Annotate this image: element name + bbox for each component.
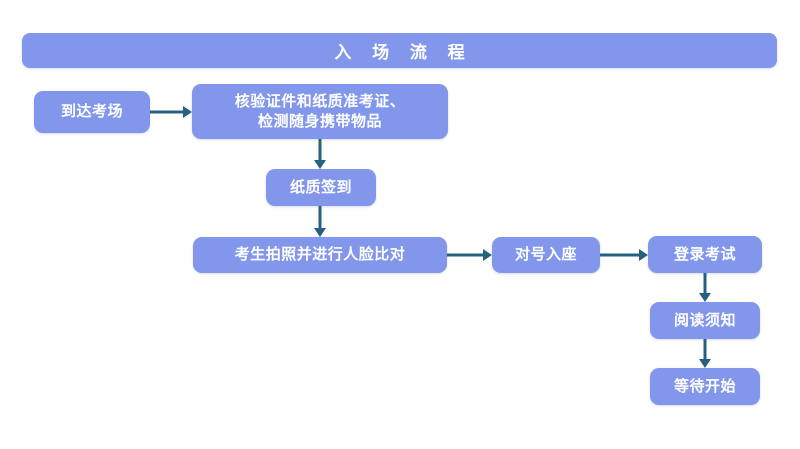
flow-node-wait-start[interactable]: 等待开始 — [650, 368, 760, 405]
arrow-head — [639, 249, 648, 261]
flowchart-title-banner: 入 场 流 程 — [22, 33, 777, 68]
flow-node-label-multiline: 核验证件和纸质准考证、 检测随身携带物品 — [235, 92, 406, 132]
flow-node-label: 到达考场 — [61, 102, 123, 122]
arrow-head — [699, 359, 711, 368]
arrow-line — [600, 254, 640, 257]
arrow-right-icon-face-compare-to-seat — [447, 247, 492, 263]
arrow-line — [319, 206, 322, 229]
flow-node-face-compare[interactable]: 考生拍照并进行人脸比对 — [193, 237, 447, 273]
flow-node-login[interactable]: 登录考试 — [648, 236, 762, 273]
page-title: 入 场 流 程 — [326, 38, 472, 63]
flow-node-label: 登录考试 — [674, 245, 736, 265]
flowchart-canvas: 入 场 流 程 到达考场 核验证件和纸质准考证、 检测随身携带物品 纸质签到 考… — [0, 0, 800, 449]
flow-node-label-line2: 检测随身携带物品 — [258, 113, 382, 130]
flow-node-label: 等待开始 — [674, 377, 736, 397]
arrow-line — [150, 111, 184, 114]
arrow-down-icon-paper-signin-to-face-compare — [312, 206, 328, 237]
flow-node-paper-signin[interactable]: 纸质签到 — [266, 169, 376, 206]
arrow-right-icon-arrive-to-verify — [150, 104, 192, 120]
flow-node-label: 考生拍照并进行人脸比对 — [235, 245, 406, 265]
arrow-line — [447, 254, 484, 257]
arrow-head — [314, 160, 326, 169]
arrow-right-icon-seat-to-login — [600, 247, 648, 263]
arrow-down-icon-read-notice-to-wait-start — [697, 339, 713, 368]
flow-node-read-notice[interactable]: 阅读须知 — [650, 302, 760, 339]
flow-node-label: 阅读须知 — [674, 311, 736, 331]
arrow-down-icon-login-to-read-notice — [697, 273, 713, 302]
flow-node-label: 对号入座 — [515, 245, 577, 265]
flow-node-label: 纸质签到 — [290, 178, 352, 198]
flow-node-arrive[interactable]: 到达考场 — [34, 91, 150, 133]
arrow-head — [483, 249, 492, 261]
flow-node-seat[interactable]: 对号入座 — [492, 237, 600, 273]
flow-node-verify[interactable]: 核验证件和纸质准考证、 检测随身携带物品 — [192, 84, 448, 139]
arrow-head — [314, 228, 326, 237]
flow-node-label-line1: 核验证件和纸质准考证、 — [235, 93, 406, 110]
arrow-down-icon-verify-to-paper-signin — [312, 139, 328, 169]
arrow-head — [699, 293, 711, 302]
arrow-head — [183, 106, 192, 118]
arrow-line — [319, 139, 322, 161]
arrow-line — [704, 273, 707, 294]
arrow-line — [704, 339, 707, 360]
